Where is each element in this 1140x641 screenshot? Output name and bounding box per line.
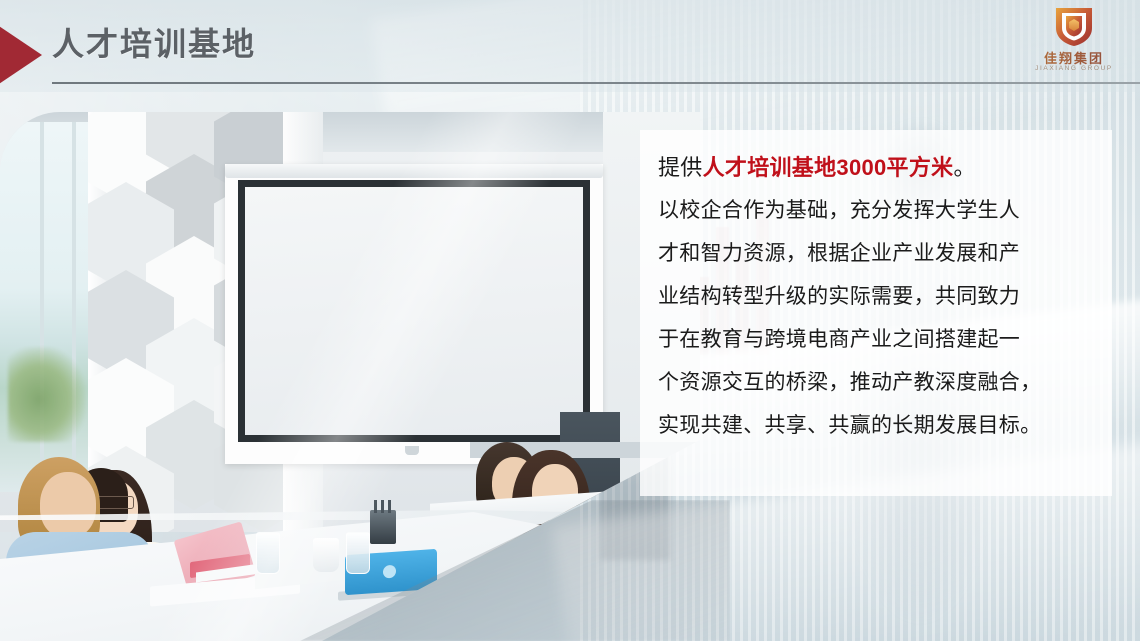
line-1-prefix: 提供	[658, 155, 703, 180]
paragraph-line-4: 业结构转型升级的实际需要，共同致力	[658, 275, 1098, 318]
slide-canvas: 04 — ○ 67% 42	[0, 0, 1140, 641]
slide-header: 人才培训基地	[0, 0, 1140, 92]
content-panel: 提供人才培训基地3000平方米。 以校企合作为基础，充分发挥大学生人 才和智力资…	[640, 130, 1112, 496]
shield-icon	[1052, 4, 1096, 48]
logo-name-en: JIAXIANG GROUP	[1026, 65, 1122, 72]
line-1-suffix: 。	[953, 155, 975, 180]
content-panel-text: 提供人才培训基地3000平方米。 以校企合作为基础，充分发挥大学生人 才和智力资…	[658, 146, 1098, 447]
line-1-highlight: 人才培训基地3000平方米	[703, 155, 954, 180]
company-logo: 佳翔集团 JIAXIANG GROUP	[1026, 4, 1122, 82]
paragraph-line-6: 个资源交互的桥梁，推动产教深度融合，	[658, 361, 1098, 404]
paragraph-line-1: 提供人才培训基地3000平方米。	[658, 146, 1098, 189]
paragraph-line-7: 实现共建、共享、共赢的长期发展目标。	[658, 404, 1098, 447]
paragraph-line-3: 才和智力资源，根据企业产业发展和产	[658, 232, 1098, 275]
page-title: 人才培训基地	[52, 28, 256, 60]
paragraph-line-5: 于在教育与跨境电商产业之间搭建起一	[658, 318, 1098, 361]
header-divider	[52, 82, 1140, 84]
paragraph-line-2: 以校企合作为基础，充分发挥大学生人	[658, 189, 1098, 232]
